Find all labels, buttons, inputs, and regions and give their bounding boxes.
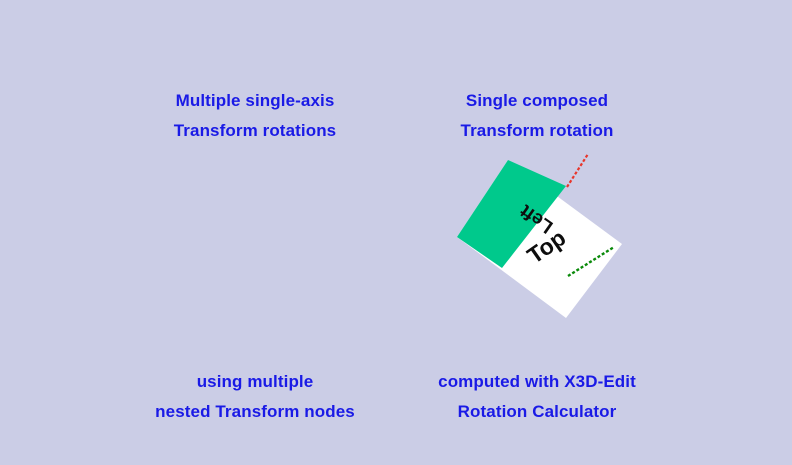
right-column-heading: Single composed Transform rotation	[392, 86, 682, 146]
left-scene-viewport	[110, 148, 400, 336]
figure-canvas: Multiple single-axis Transform rotations…	[0, 0, 792, 465]
left-footer-line-2: nested Transform nodes	[110, 397, 400, 427]
left-footer-line-1: using multiple	[110, 367, 400, 397]
left-column-heading: Multiple single-axis Transform rotations	[110, 86, 400, 146]
right-scene-viewport: Left Top	[392, 148, 682, 336]
left-heading-line-2: Transform rotations	[110, 116, 400, 146]
right-footer-line-1: computed with X3D-Edit	[392, 367, 682, 397]
right-heading-line-1: Single composed	[392, 86, 682, 116]
left-heading-line-1: Multiple single-axis	[110, 86, 400, 116]
x-axis-icon	[567, 154, 588, 187]
rotated-cube-graphic: Left Top	[392, 148, 682, 336]
right-heading-line-2: Transform rotation	[392, 116, 682, 146]
right-column-footer: computed with X3D-Edit Rotation Calculat…	[392, 367, 682, 427]
right-footer-line-2: Rotation Calculator	[392, 397, 682, 427]
left-column-footer: using multiple nested Transform nodes	[110, 367, 400, 427]
